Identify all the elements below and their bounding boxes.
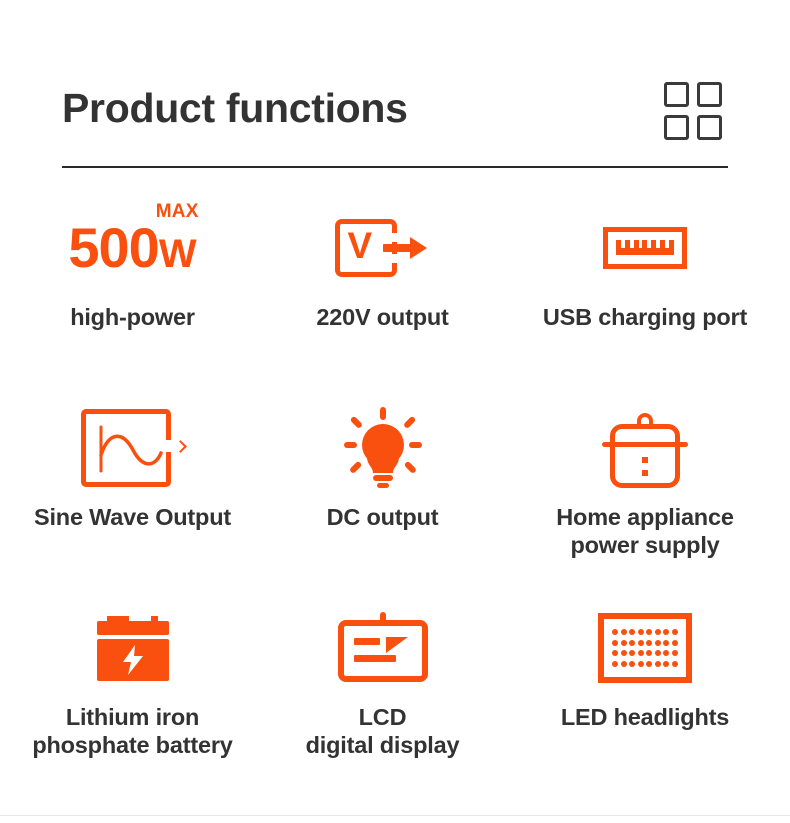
feature-label: high-power [70,304,195,332]
feature-220v-output: V 220V output [265,196,500,396]
power-number: 500 [68,221,158,274]
voltage-frame-gap-bottom [383,254,397,263]
icon-container [598,596,692,700]
feature-dc-output: DC output [265,396,500,596]
lightning-bolt-icon [120,645,146,675]
grid-2x2-icon [664,82,726,144]
icon-container [93,596,173,700]
sine-frame-gap [166,440,174,452]
title-divider [62,166,728,168]
feature-grid: 500 W MAX high-power V 220V output [0,196,790,796]
pot-lid-line [602,442,688,447]
feature-led-headlights: LED headlights [500,596,790,796]
feature-label: LED headlights [561,704,729,732]
power-500w-max-icon: 500 W MAX [68,196,196,300]
lcd-display-icon [338,612,428,684]
feature-home-appliance-power-supply: Home appliance power supply [500,396,790,596]
page-header: Product functions [0,0,790,180]
icon-container [603,196,687,300]
voltage-output-icon: V [335,219,431,277]
feature-label: 220V output [316,304,448,332]
feature-label: Sine Wave Output [34,504,231,532]
feature-label: DC output [327,504,439,532]
usb-port-icon [603,227,687,269]
led-panel-icon [598,613,692,683]
grid-cell-top-left [664,82,689,107]
footer-divider [0,815,790,816]
battery-cap [97,621,169,635]
icon-container [338,596,428,700]
grid-cell-bottom-right [697,115,722,140]
icon-container [340,396,426,500]
lcd-text-line-2 [354,655,396,662]
lcd-screen-frame [338,620,428,682]
sine-wave-icon [81,409,185,487]
led-dot-grid [611,627,679,669]
power-rating: 500 W MAX [68,221,196,274]
feature-lithium-battery: Lithium iron phosphate battery [0,596,265,796]
feature-high-power: 500 W MAX high-power [0,196,265,396]
lcd-triangle-glyph [386,637,408,653]
page-title: Product functions [62,88,408,129]
pot-dot-bottom [642,470,648,476]
lcd-text-line-1 [354,638,380,645]
icon-container [602,396,688,500]
icon-container: V [335,196,431,300]
light-bulb-icon [340,405,426,491]
grid-cell-bottom-left [664,115,689,140]
icon-container [81,396,185,500]
voltage-letter: V [348,227,373,264]
feature-label: USB charging port [543,304,747,332]
feature-label: LCD digital display [306,704,460,759]
grid-cell-top-right [697,82,722,107]
power-max-badge: MAX [156,201,199,223]
battery-bolt-icon [93,613,173,683]
arrow-right-icon-head [410,237,427,259]
feature-sine-wave-output: Sine Wave Output [0,396,265,596]
feature-label: Home appliance power supply [556,504,733,559]
feature-label: Lithium iron phosphate battery [32,704,232,759]
cooking-pot-icon [602,407,688,489]
feature-usb-charging-port: USB charging port [500,196,790,396]
voltage-frame-gap-top [383,233,397,242]
feature-lcd-digital-display: LCD digital display [265,596,500,796]
usb-bar [616,248,674,255]
power-unit: W [159,234,197,274]
pot-body [610,424,680,488]
pot-dot-top [642,457,648,463]
